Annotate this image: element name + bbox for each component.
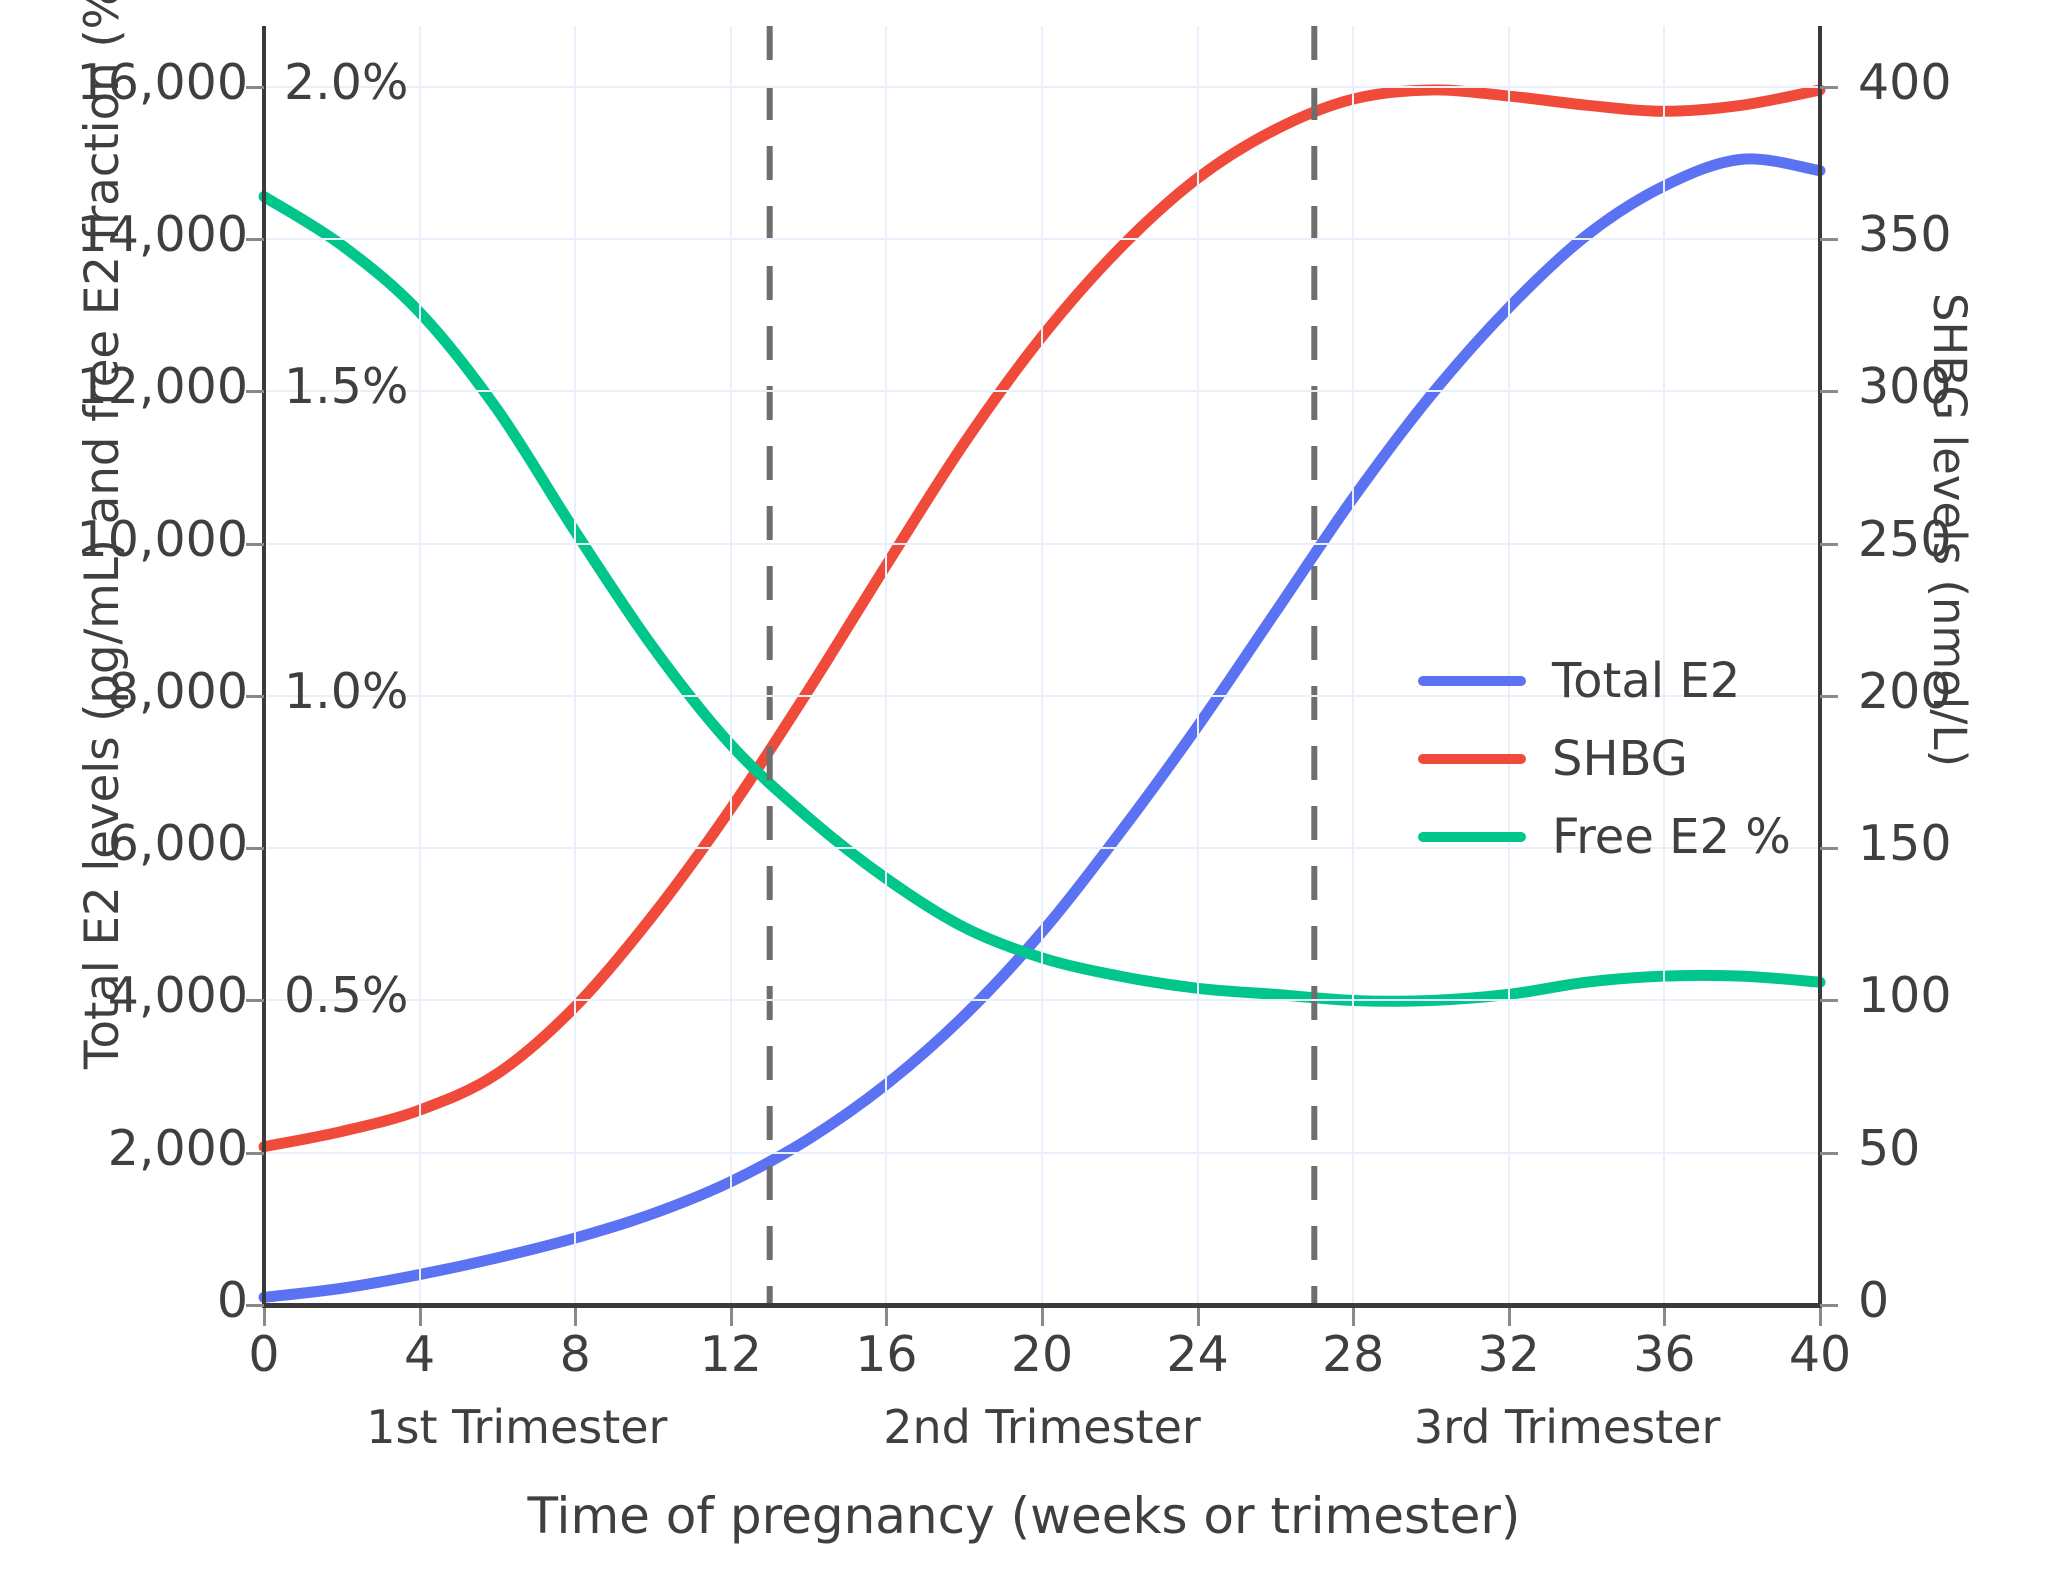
tick-mark-bottom: [263, 1308, 266, 1326]
tick-mark-bottom: [885, 1308, 888, 1326]
tick-mark-right: [1820, 238, 1838, 241]
tick-mark-right: [1820, 1304, 1838, 1307]
x-tick-label: 32: [1429, 1326, 1589, 1383]
chart-legend: Total E2 SHBG Free E2 %: [1418, 650, 1791, 884]
tick-mark-left: [246, 847, 264, 850]
percent-tick-label: 1.0%: [284, 663, 409, 720]
y-tick-label-right: 250: [1858, 511, 2048, 568]
y-tick-label-left: 12,000: [0, 358, 248, 415]
tick-mark-left: [246, 999, 264, 1002]
y-tick-label-right: 400: [1858, 54, 2048, 111]
y-tick-label-right: 200: [1858, 663, 2048, 720]
legend-label-free-e2: Free E2 %: [1552, 809, 1791, 865]
percent-tick-label: 2.0%: [284, 54, 409, 111]
tick-mark-bottom: [1663, 1308, 1666, 1326]
x-tick-label: 4: [340, 1326, 500, 1383]
tick-mark-bottom: [1352, 1308, 1355, 1326]
trimester-label-1: 1st Trimester: [307, 1400, 727, 1454]
y-tick-label-right: 0: [1858, 1272, 2048, 1329]
legend-item-free-e2[interactable]: Free E2 %: [1418, 806, 1791, 868]
y-tick-label-left: 10,000: [0, 511, 248, 568]
tick-mark-left: [246, 390, 264, 393]
left-axis-spine: [262, 26, 266, 1307]
x-tick-label: 40: [1740, 1326, 1900, 1383]
tick-mark-right: [1820, 543, 1838, 546]
gridline-vertical: [885, 26, 887, 1305]
gridline-vertical: [419, 26, 421, 1305]
legend-swatch-free-e2: [1418, 832, 1526, 842]
tick-mark-right: [1820, 86, 1838, 89]
tick-mark-bottom: [1041, 1308, 1044, 1326]
tick-mark-right: [1820, 1152, 1838, 1155]
tick-mark-bottom: [1197, 1308, 1200, 1326]
y-tick-label-left: 8,000: [0, 663, 248, 720]
gridline-vertical: [574, 26, 576, 1305]
y-tick-label-right: 100: [1858, 967, 2048, 1024]
legend-label-total-e2: Total E2: [1552, 653, 1740, 709]
trimester-label-3: 3rd Trimester: [1357, 1400, 1777, 1454]
percent-tick-label: 1.5%: [284, 358, 409, 415]
x-tick-label: 0: [184, 1326, 344, 1383]
y-tick-label-right: 300: [1858, 358, 2048, 415]
y-tick-label-left: 16,000: [0, 54, 248, 111]
legend-swatch-total-e2: [1418, 676, 1526, 686]
tick-mark-right: [1820, 847, 1838, 850]
tick-mark-bottom: [1508, 1308, 1511, 1326]
x-axis-label: Time of pregnancy (weeks or trimester): [0, 1487, 2048, 1545]
tick-mark-bottom: [574, 1308, 577, 1326]
tick-mark-bottom: [1819, 1308, 1822, 1326]
tick-mark-left: [246, 543, 264, 546]
tick-mark-left: [246, 86, 264, 89]
tick-mark-right: [1820, 695, 1838, 698]
legend-item-total-e2[interactable]: Total E2: [1418, 650, 1791, 712]
tick-mark-left: [246, 238, 264, 241]
percent-tick-label: 0.5%: [284, 967, 409, 1024]
y-tick-label-left: 14,000: [0, 206, 248, 263]
gridline-vertical: [1041, 26, 1043, 1305]
trimester-label-2: 2nd Trimester: [832, 1400, 1252, 1454]
right-axis-spine: [1818, 26, 1822, 1307]
x-tick-label: 20: [962, 1326, 1122, 1383]
gridline-vertical: [1352, 26, 1354, 1305]
y-tick-label-left: 4,000: [0, 967, 248, 1024]
legend-label-shbg: SHBG: [1552, 731, 1688, 787]
x-tick-label: 28: [1273, 1326, 1433, 1383]
tick-mark-left: [246, 1304, 264, 1307]
legend-item-shbg[interactable]: SHBG: [1418, 728, 1791, 790]
tick-mark-bottom: [419, 1308, 422, 1326]
x-tick-label: 12: [651, 1326, 811, 1383]
y-tick-label-left: 0: [0, 1272, 248, 1329]
x-tick-label: 36: [1584, 1326, 1744, 1383]
tick-mark-left: [246, 1152, 264, 1155]
y-tick-label-left: 2,000: [0, 1120, 248, 1177]
tick-mark-left: [246, 695, 264, 698]
chart-figure: Total E2 levels (pg/mL) and free E2 frac…: [0, 0, 2048, 1582]
tick-mark-right: [1820, 999, 1838, 1002]
y-tick-label-right: 50: [1858, 1120, 2048, 1177]
y-tick-label-right: 150: [1858, 815, 2048, 872]
gridline-vertical: [1197, 26, 1199, 1305]
gridline-vertical: [730, 26, 732, 1305]
tick-mark-right: [1820, 390, 1838, 393]
legend-swatch-shbg: [1418, 754, 1526, 764]
y-tick-label-left: 6,000: [0, 815, 248, 872]
tick-mark-bottom: [730, 1308, 733, 1326]
x-tick-label: 16: [806, 1326, 966, 1383]
x-tick-label: 8: [495, 1326, 655, 1383]
x-tick-label: 24: [1118, 1326, 1278, 1383]
y-tick-label-right: 350: [1858, 206, 2048, 263]
